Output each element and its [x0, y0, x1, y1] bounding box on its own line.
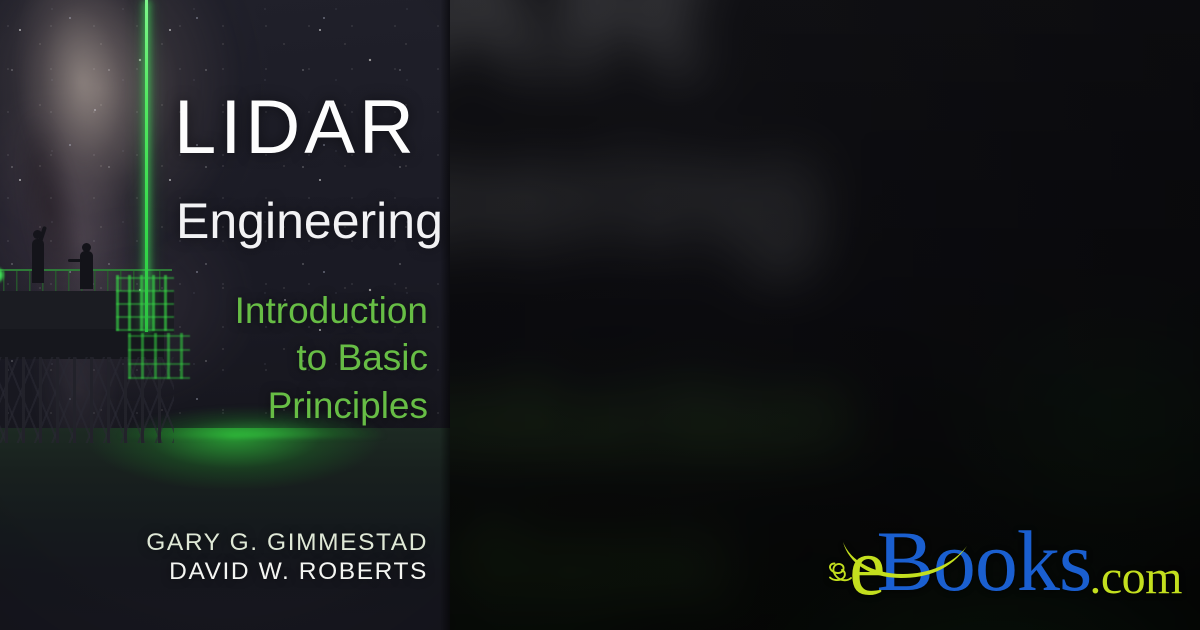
cover-author-1: GARY G. GIMMESTAD	[0, 529, 428, 558]
logo-tld-com: .com	[1089, 554, 1182, 602]
cover-typography: LIDAR Engineering Introduction to Basic …	[0, 0, 450, 630]
cover-subtitle-line-3: Principles	[0, 382, 428, 429]
book-cover[interactable]: LIDAR Engineering Introduction to Basic …	[0, 0, 450, 630]
cover-subtitle: Introduction to Basic Principles	[0, 287, 428, 429]
cover-subtitle-line-2: to Basic	[0, 334, 428, 381]
cover-subtitle-line-1: Introduction	[0, 287, 428, 334]
cover-author-2: DAVID W. ROBERTS	[0, 558, 428, 587]
ebooks-com-logo[interactable]: e Books .com	[827, 518, 1182, 604]
cover-authors: GARY G. GIMMESTAD DAVID W. ROBERTS	[0, 529, 428, 587]
cover-title-lidar: LIDAR	[174, 90, 418, 166]
cover-right-edge-shadow	[440, 0, 450, 630]
cover-title-engineering: Engineering	[176, 196, 443, 246]
page-root: LIDAR Engineering Introduction to Basic	[0, 0, 1200, 630]
logo-e-swoosh-icon	[841, 538, 971, 582]
